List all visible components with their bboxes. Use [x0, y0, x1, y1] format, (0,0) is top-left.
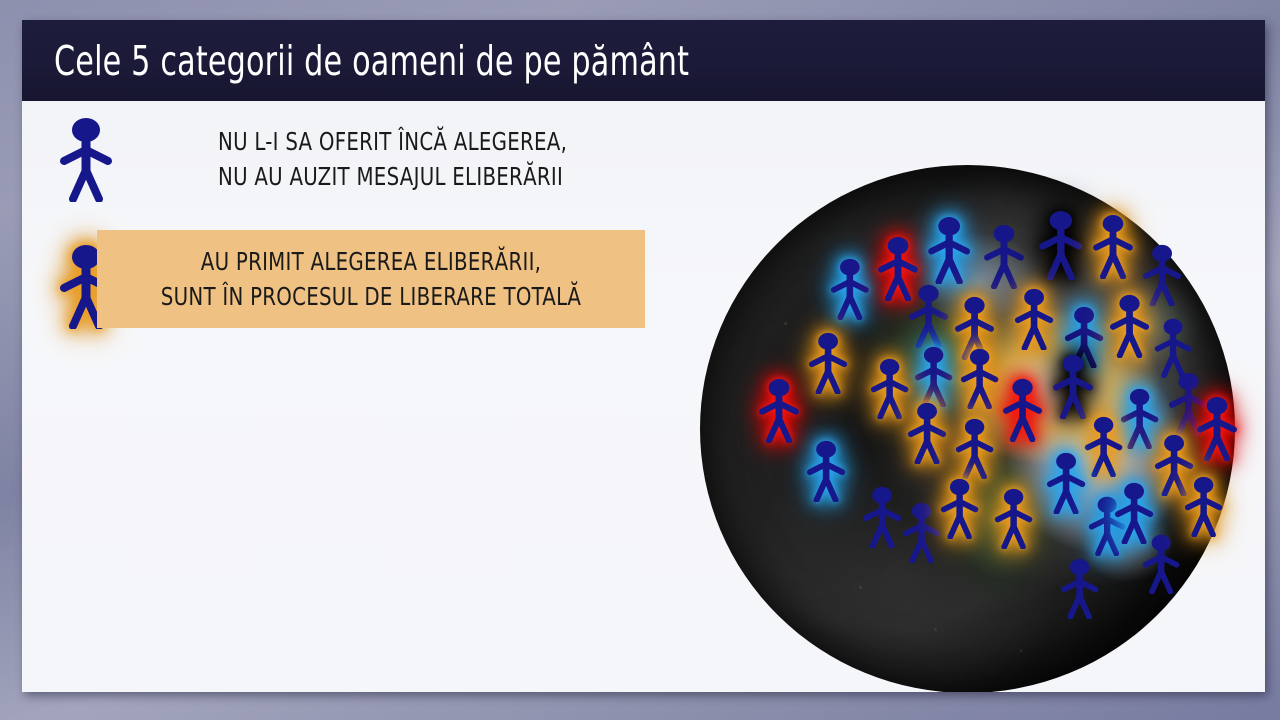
slide-canvas: Cele 5 categorii de oameni de pe pământ …	[22, 20, 1265, 692]
globe-stick-figure	[905, 401, 949, 464]
globe-stick-figure	[806, 331, 850, 394]
globe-stick-figure	[1012, 287, 1056, 350]
globe-stick-figure	[1182, 475, 1225, 537]
legend-line-2: SUNT ÎN PROCESUL DE LIBERARE TOTALĂ	[130, 279, 612, 314]
globe-stick-figure	[1050, 353, 1096, 419]
earth-globe-illustration	[700, 165, 1252, 692]
globe-stick-figure	[981, 223, 1027, 289]
globe-stick-figure	[958, 347, 1001, 409]
globe-stick-figure	[860, 485, 904, 548]
globe-stick-figure	[1058, 557, 1101, 619]
globe-stick-figure	[804, 439, 848, 502]
legend-line-1: AU PRIMIT ALEGEREA ELIBERĂRII,	[130, 244, 612, 279]
globe-stick-figure	[1140, 533, 1182, 594]
legend-row-category-2: AU PRIMIT ALEGEREA ELIBERĂRII, SUNT ÎN P…	[22, 225, 722, 345]
globe-stick-figure	[992, 487, 1035, 549]
globe-stick-figure	[953, 417, 996, 479]
globe-stick-figure	[900, 501, 943, 563]
globe-stick-figure	[906, 283, 951, 348]
globe-stick-figure	[1194, 395, 1240, 461]
globe-stick-figure	[912, 345, 955, 407]
globe-stick-figure	[1152, 317, 1194, 378]
globe-stick-figure	[756, 377, 802, 443]
legend-line-1: NU L-I SA OFERIT ÎNCĂ ALEGEREA,	[218, 124, 567, 159]
globe-stick-figure	[828, 257, 872, 320]
globe-stick-figure	[925, 215, 973, 284]
globe-stick-figure	[1082, 415, 1125, 477]
globe-stick-figure	[1090, 213, 1136, 279]
legend-row-category-1: NU L-I SA OFERIT ÎNCĂ ALEGEREA, NU AU AU…	[22, 116, 722, 206]
legend-label-category-1: NU L-I SA OFERIT ÎNCĂ ALEGEREA, NU AU AU…	[218, 124, 567, 194]
globe-stick-figure	[938, 477, 981, 539]
globe-stick-figure	[1036, 209, 1086, 280]
globe-stick-figure	[1107, 293, 1152, 358]
globe-stick-figure	[1044, 451, 1088, 514]
legend-line-2: NU AU AUZIT MESAJUL ELIBERĂRII	[218, 159, 567, 194]
slide-title-bar: Cele 5 categorii de oameni de pe pământ	[22, 20, 1265, 101]
legend-label-category-2: AU PRIMIT ALEGEREA ELIBERĂRII, SUNT ÎN P…	[130, 244, 612, 314]
page-title: Cele 5 categorii de oameni de pe pământ	[54, 37, 689, 85]
globe-stick-figure	[1000, 377, 1045, 442]
stick-figure-icon	[56, 116, 124, 206]
globe-figure-layer	[700, 165, 1252, 692]
highlight-box: AU PRIMIT ALEGEREA ELIBERĂRII, SUNT ÎN P…	[97, 230, 645, 328]
